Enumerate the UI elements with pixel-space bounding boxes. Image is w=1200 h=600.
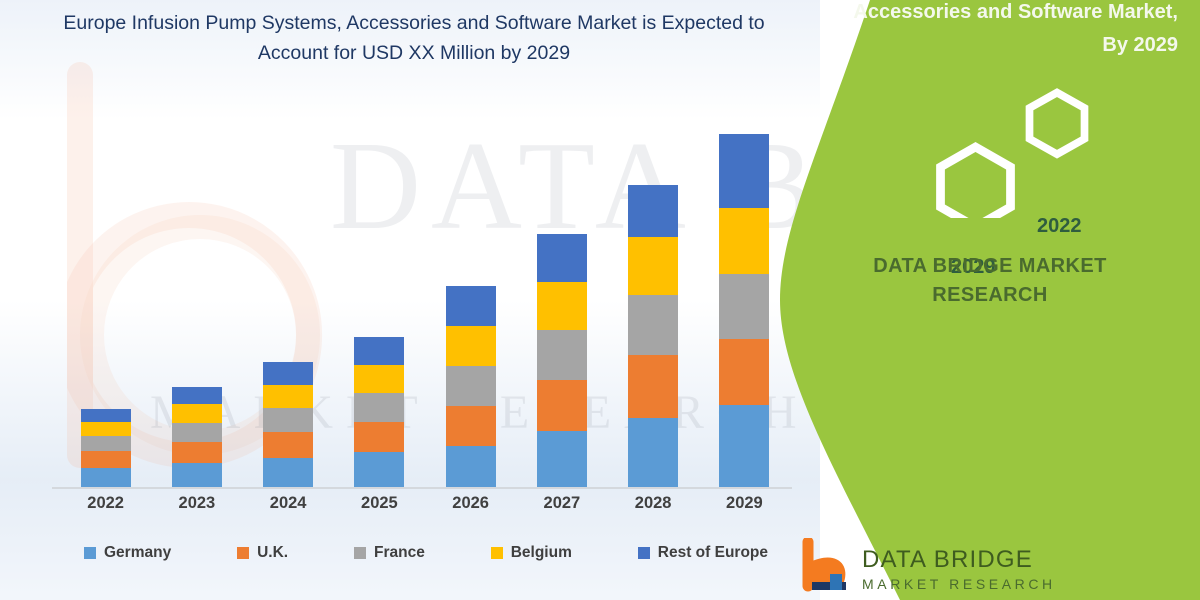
- bar-segment-u-k[interactable]: [354, 422, 404, 452]
- bar-segment-germany[interactable]: [537, 431, 587, 488]
- stacked-bar[interactable]: [81, 409, 131, 488]
- bar-segment-germany[interactable]: [263, 458, 313, 488]
- bar-groups: [60, 100, 790, 488]
- bar-segment-germany[interactable]: [719, 405, 769, 488]
- stacked-bar[interactable]: [446, 286, 496, 488]
- bar-segment-france[interactable]: [354, 393, 404, 422]
- infographic-canvas: DATA B MARKET RESEARCH Europe Infusion P…: [0, 0, 1200, 600]
- bar-segment-rest-of-europe[interactable]: [81, 409, 131, 422]
- legend-label: U.K.: [257, 544, 288, 562]
- bar-segment-rest-of-europe[interactable]: [719, 134, 769, 208]
- x-tick-2025: 2025: [334, 494, 425, 513]
- bar-segment-france[interactable]: [263, 408, 313, 432]
- stacked-bar[interactable]: [719, 134, 769, 488]
- hexagon-2029-icon: [941, 147, 1011, 218]
- legend-swatch-icon: [84, 547, 96, 559]
- legend-label: Rest of Europe: [658, 544, 768, 562]
- bar-segment-belgium[interactable]: [719, 208, 769, 274]
- legend-swatch-icon: [638, 547, 650, 559]
- bar-segment-france[interactable]: [446, 366, 496, 406]
- bar-segment-germany[interactable]: [81, 468, 131, 488]
- bar-group-2025: [334, 100, 425, 488]
- brand-line-2: RESEARCH: [780, 281, 1200, 310]
- stacked-bar[interactable]: [628, 185, 678, 488]
- bar-segment-u-k[interactable]: [263, 432, 313, 458]
- stacked-bar[interactable]: [263, 362, 313, 488]
- chart-legend: GermanyU.K.FranceBelgiumRest of Europe: [60, 540, 790, 566]
- bar-segment-france[interactable]: [537, 330, 587, 380]
- panel-title: Accessories and Software Market, By 2029: [823, 0, 1178, 62]
- bar-segment-belgium[interactable]: [537, 282, 587, 330]
- footer-logo: DATA BRIDGE MARKET RESEARCH: [800, 538, 1200, 600]
- bar-segment-rest-of-europe[interactable]: [446, 286, 496, 326]
- bar-segment-u-k[interactable]: [537, 380, 587, 431]
- bar-segment-france[interactable]: [81, 436, 131, 451]
- legend-item-germany[interactable]: Germany: [84, 544, 171, 562]
- stacked-bar[interactable]: [354, 337, 404, 488]
- bar-segment-france[interactable]: [172, 423, 222, 442]
- bar-group-2023: [151, 100, 242, 488]
- bar-group-2022: [60, 100, 151, 488]
- bar-segment-rest-of-europe[interactable]: [172, 387, 222, 404]
- x-axis-tick-labels: 20222023202420252026202720282029: [60, 494, 790, 513]
- brand-panel: Accessories and Software Market, By 2029…: [780, 0, 1200, 600]
- x-tick-2027: 2027: [516, 494, 607, 513]
- bar-segment-belgium[interactable]: [628, 237, 678, 295]
- bar-segment-germany[interactable]: [354, 452, 404, 488]
- bar-segment-belgium[interactable]: [172, 404, 222, 423]
- x-tick-2022: 2022: [60, 494, 151, 513]
- legend-item-belgium[interactable]: Belgium: [491, 544, 572, 562]
- bar-segment-france[interactable]: [628, 295, 678, 355]
- bar-segment-rest-of-europe[interactable]: [628, 185, 678, 237]
- legend-item-france[interactable]: France: [354, 544, 425, 562]
- bar-group-2026: [425, 100, 516, 488]
- stacked-bar-chart: [60, 100, 790, 488]
- bar-segment-u-k[interactable]: [628, 355, 678, 418]
- legend-item-rest-of-europe[interactable]: Rest of Europe: [638, 544, 768, 562]
- x-tick-2026: 2026: [425, 494, 516, 513]
- bar-segment-rest-of-europe[interactable]: [537, 234, 587, 282]
- x-axis-line: [52, 487, 792, 489]
- bar-segment-u-k[interactable]: [81, 451, 131, 468]
- bar-segment-u-k[interactable]: [719, 339, 769, 405]
- legend-swatch-icon: [354, 547, 366, 559]
- bar-segment-belgium[interactable]: [263, 385, 313, 408]
- footer-logo-subtext: MARKET RESEARCH: [862, 576, 1056, 592]
- bar-segment-germany[interactable]: [628, 418, 678, 488]
- legend-item-u-k[interactable]: U.K.: [237, 544, 288, 562]
- bar-segment-belgium[interactable]: [354, 365, 404, 393]
- bar-segment-france[interactable]: [719, 274, 769, 339]
- legend-label: Belgium: [511, 544, 572, 562]
- hexagon-icons: [890, 88, 1130, 218]
- bar-group-2024: [243, 100, 334, 488]
- brand-name: DATA BRIDGE MARKET RESEARCH: [780, 252, 1200, 310]
- legend-label: Germany: [104, 544, 171, 562]
- x-tick-2023: 2023: [151, 494, 242, 513]
- bar-segment-belgium[interactable]: [446, 326, 496, 366]
- bar-group-2028: [608, 100, 699, 488]
- footer-logo-text: DATA BRIDGE: [862, 546, 1033, 574]
- stacked-bar[interactable]: [172, 387, 222, 488]
- bar-segment-rest-of-europe[interactable]: [263, 362, 313, 385]
- hexagon-2022-label: 2022: [1037, 215, 1082, 238]
- hexagon-pair: 2022 2029: [890, 88, 1130, 218]
- hexagon-2022-icon: [1030, 93, 1085, 155]
- legend-swatch-icon: [237, 547, 249, 559]
- bar-segment-belgium[interactable]: [81, 422, 131, 436]
- page-title: Europe Infusion Pump Systems, Accessorie…: [28, 8, 800, 68]
- x-tick-2028: 2028: [608, 494, 699, 513]
- x-tick-2024: 2024: [243, 494, 334, 513]
- bar-segment-u-k[interactable]: [172, 442, 222, 463]
- legend-label: France: [374, 544, 425, 562]
- legend-swatch-icon: [491, 547, 503, 559]
- bar-segment-rest-of-europe[interactable]: [354, 337, 404, 365]
- bar-segment-germany[interactable]: [172, 463, 222, 488]
- bar-segment-u-k[interactable]: [446, 406, 496, 446]
- databridge-b-mark-icon: [800, 538, 856, 592]
- stacked-bar[interactable]: [537, 234, 587, 488]
- bar-group-2027: [516, 100, 607, 488]
- x-tick-2029: 2029: [699, 494, 790, 513]
- brand-line-1: DATA BRIDGE MARKET: [780, 252, 1200, 281]
- bar-group-2029: [699, 100, 790, 488]
- bar-segment-germany[interactable]: [446, 446, 496, 488]
